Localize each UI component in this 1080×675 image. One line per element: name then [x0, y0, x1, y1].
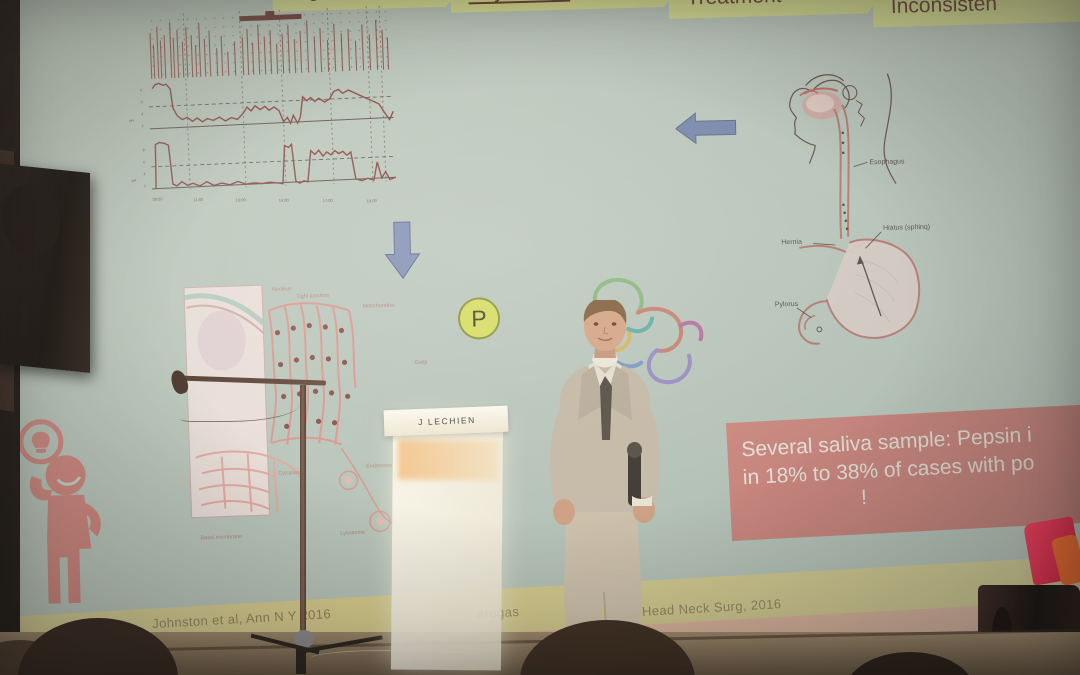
callout-line-3: ! — [744, 480, 985, 516]
svg-text:4: 4 — [143, 172, 145, 176]
svg-text:Tight junction: Tight junction — [296, 293, 329, 300]
svg-text:2: 2 — [142, 124, 144, 128]
callout-line-2: in 18% to 38% of cases with po — [742, 445, 1080, 492]
nav-tab-1-label: ...ge — [290, 0, 332, 3]
mic-stand-leg-c — [296, 648, 306, 674]
anatomy-label-hiatus: Hiatus (sphinq) — [883, 224, 930, 232]
svg-text:Mitochondria: Mitochondria — [363, 303, 396, 310]
pepsin-saliva-callout: Several saliva sample: Pepsin i in 18% t… — [726, 403, 1080, 541]
nav-tab-inconsistent[interactable]: Inconsisten — [872, 0, 1080, 27]
svg-text:Nucleus: Nucleus — [272, 286, 292, 293]
arrow-left-icon — [675, 109, 738, 146]
svg-text:6: 6 — [143, 160, 145, 164]
svg-text:Basal membrane: Basal membrane — [200, 534, 242, 541]
svg-text:15:00: 15:00 — [279, 197, 290, 202]
presenter — [520, 300, 690, 675]
svg-text:8: 8 — [140, 88, 142, 92]
anatomy-label-pylorus: Pylorus — [775, 301, 799, 309]
svg-text:19:00: 19:00 — [367, 198, 378, 203]
svg-text:11:00: 11:00 — [193, 197, 204, 202]
nav-tab-3-label: Treatment — [686, 0, 782, 11]
svg-text:17:00: 17:00 — [323, 198, 334, 203]
svg-text:8: 8 — [142, 148, 144, 152]
svg-text:4: 4 — [141, 112, 143, 116]
svg-text:13:00: 13:00 — [236, 197, 247, 202]
hanging-speaker-left — [0, 163, 90, 373]
svg-text:2: 2 — [144, 184, 146, 188]
svg-text:Golgi: Golgi — [414, 360, 427, 366]
upper-gi-anatomy-diagram: Esophagus Hernia Hiatus (sphinq) Pylorus — [769, 54, 956, 348]
svg-text:pH: pH — [132, 178, 137, 182]
svg-text:pH: pH — [129, 118, 134, 122]
lectern-nameplate: J LECHIEN — [404, 410, 491, 430]
nav-tab-treatment[interactable]: Treatment — [668, 0, 884, 19]
svg-text:Endosome: Endosome — [366, 463, 392, 470]
pepsin-letter: P — [471, 305, 487, 332]
slide-section-nav: ...ge Physiology Treatment Inconsisten — [272, 0, 1080, 54]
svg-text:Lysosome: Lysosome — [340, 530, 365, 537]
lectern-screen-glow — [398, 440, 498, 481]
presentation-photo: ...ge Physiology Treatment Inconsisten — [0, 0, 1080, 675]
mic-stand-pole — [300, 385, 306, 643]
nav-tab-physiology[interactable]: Physiology — [450, 0, 681, 13]
pepsin-marker: P — [458, 297, 501, 340]
callout-line-1: Several saliva sample: Pepsin i — [741, 417, 1080, 464]
ph-impedance-chart: 86 42 pH 86 42 pH 09:00 11:00 13:00 — [123, 1, 399, 216]
anatomy-label-esophagus: Esophagus — [869, 158, 905, 166]
anatomy-label-hernia: Hernia — [781, 239, 802, 246]
nav-tab-2-label: Physiology — [468, 0, 570, 4]
svg-text:6: 6 — [141, 100, 143, 104]
nav-tab-4-label: Inconsisten — [891, 0, 998, 19]
svg-text:09:00: 09:00 — [152, 196, 163, 201]
